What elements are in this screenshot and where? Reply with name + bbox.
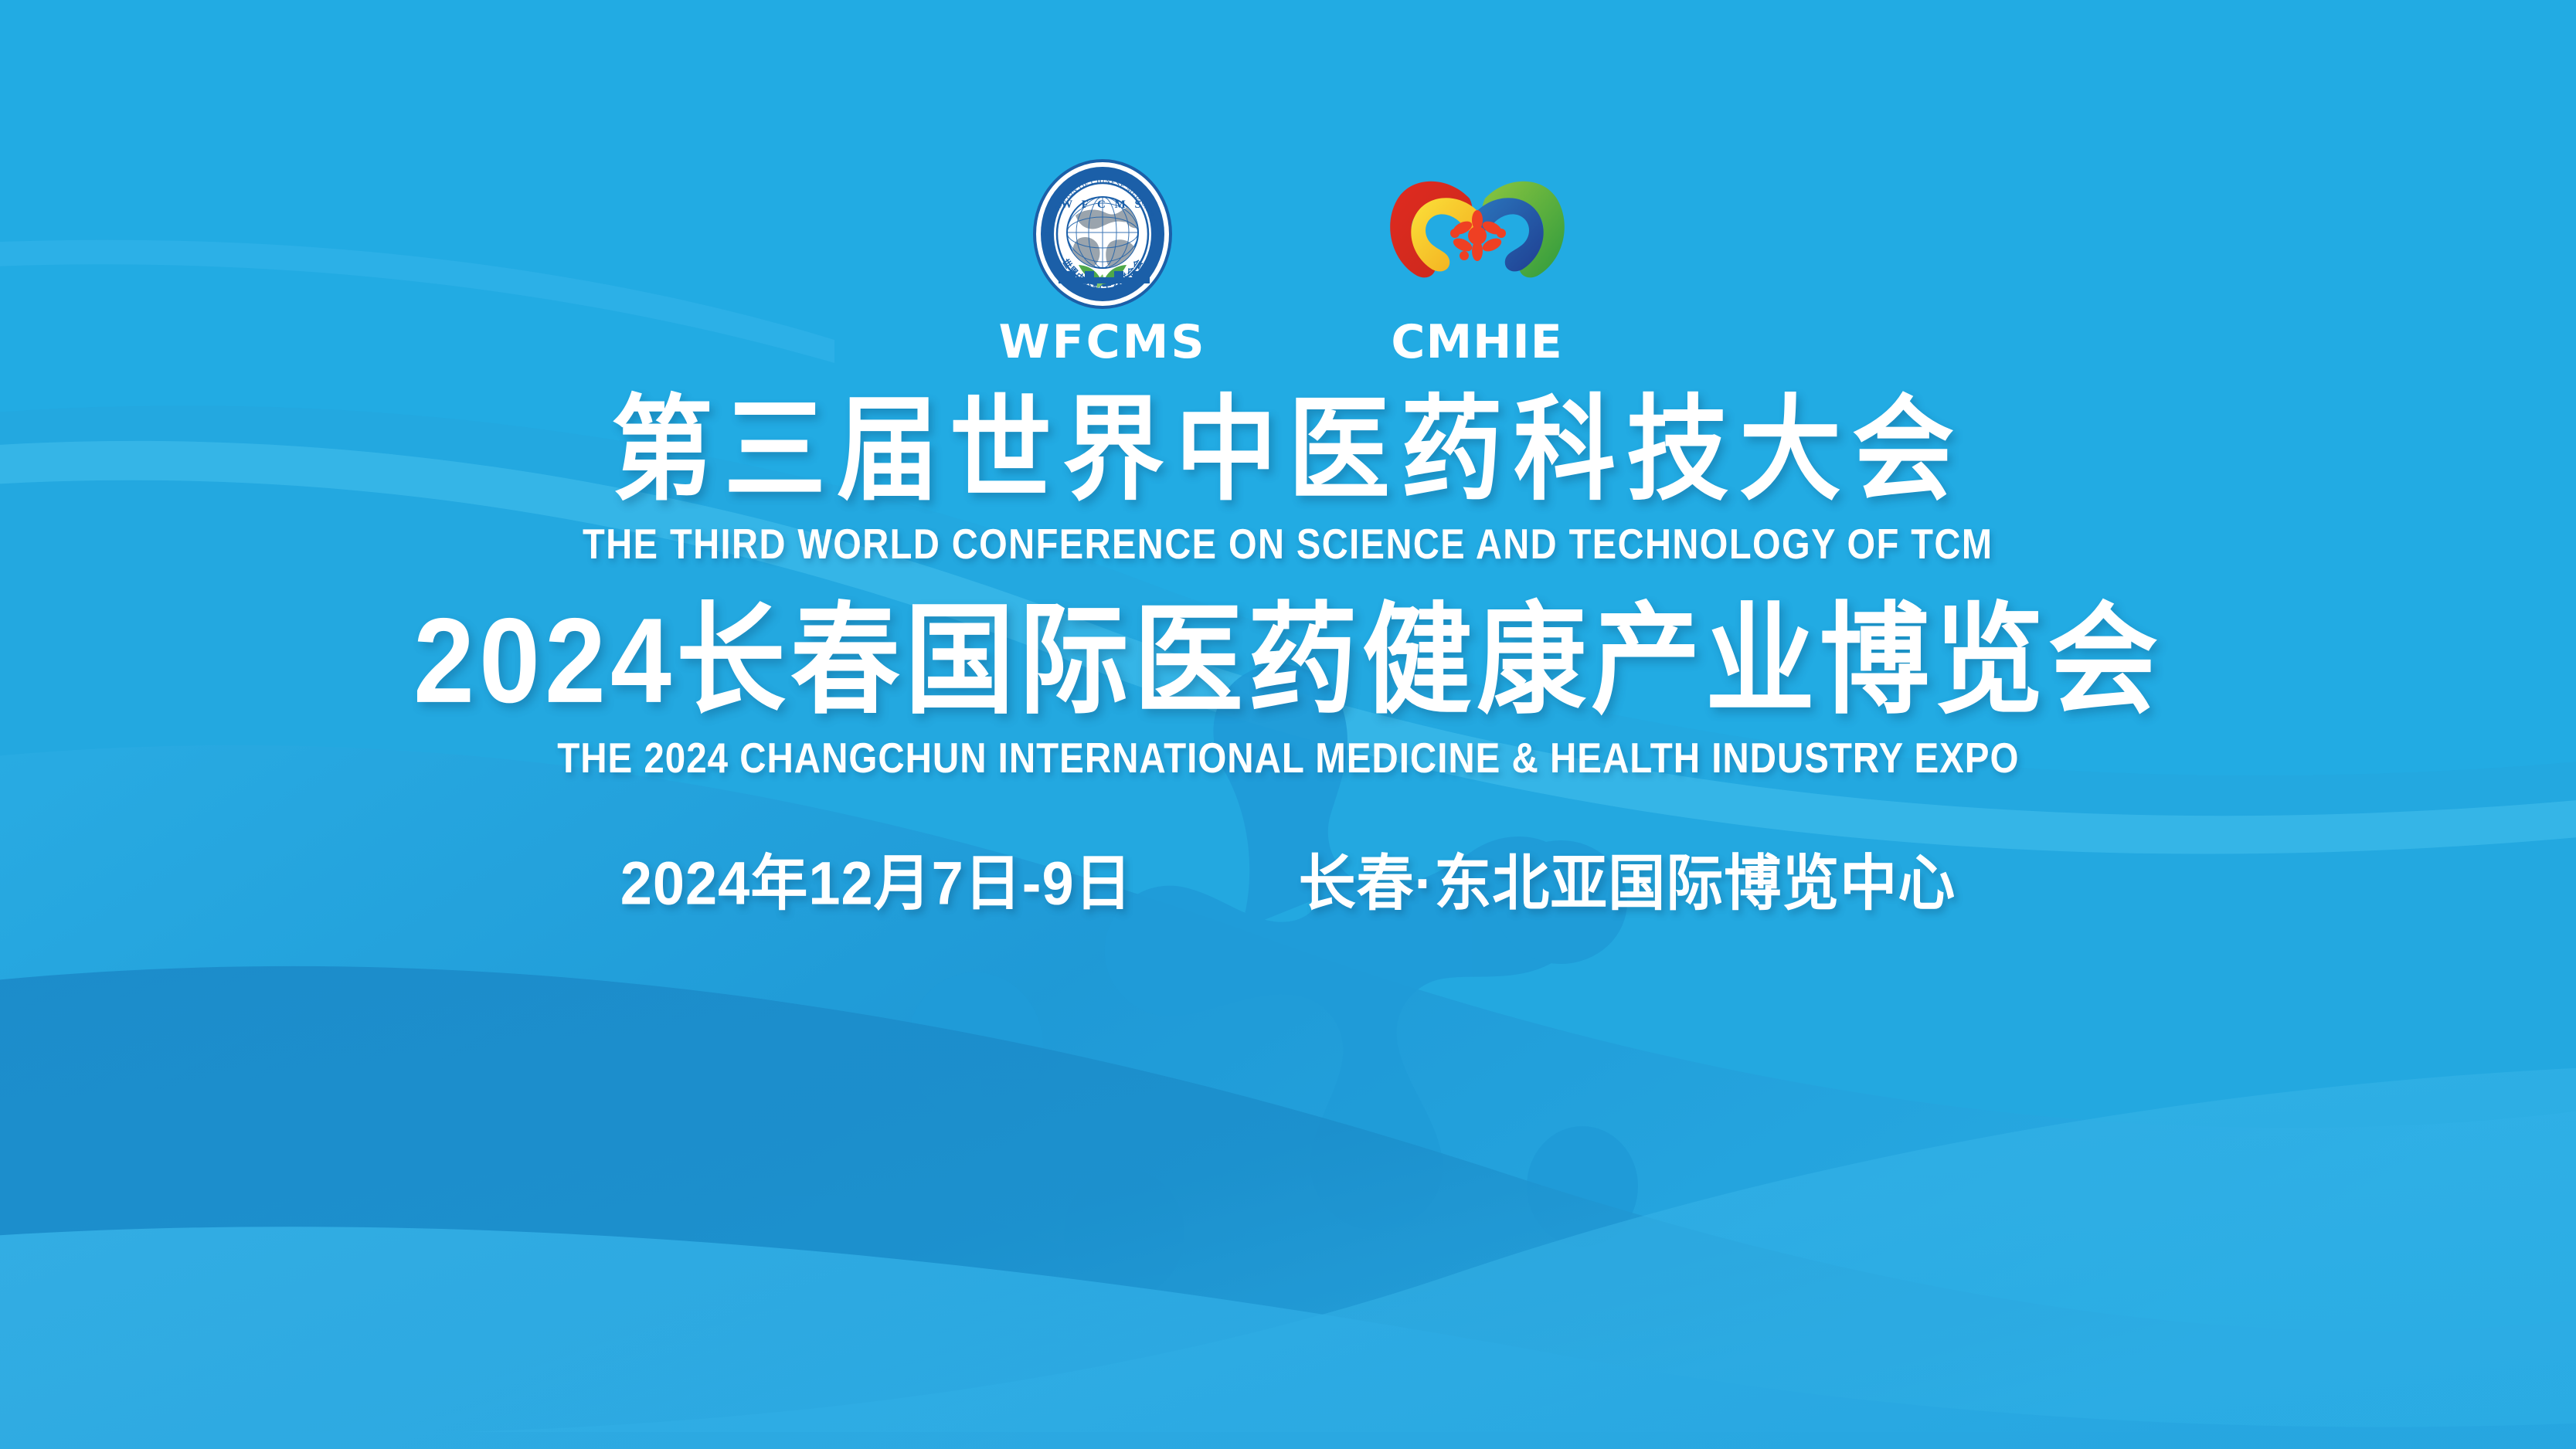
event-venue: 长春·东北亚国际博览中心 <box>1299 853 1956 914</box>
wfcms-wordmark: WFCMS <box>998 319 1206 365</box>
event-date: 2024年12月7日-9日 <box>620 853 1133 914</box>
conference-banner: WORLD FEDERATION OF CHINESE MEDICINE SOC… <box>0 0 2576 1449</box>
meta-row: 2024年12月7日-9日 长春·东北亚国际博览中心 <box>620 855 1956 912</box>
svg-text:W F C M S: W F C M S <box>1061 199 1144 211</box>
wfcms-logo: WORLD FEDERATION OF CHINESE MEDICINE SOC… <box>998 158 1206 365</box>
cmhie-wordmark: CMHIE <box>1391 319 1562 365</box>
expo-title-en: THE 2024 CHANGCHUN INTERNATIONAL MEDICIN… <box>557 738 2019 780</box>
conference-title-en: THE THIRD WORLD CONFERENCE ON SCIENCE AN… <box>583 524 1993 566</box>
banner-content: WORLD FEDERATION OF CHINESE MEDICINE SOC… <box>0 0 2576 1449</box>
wfcms-emblem-icon: WORLD FEDERATION OF CHINESE MEDICINE SOC… <box>1031 158 1174 310</box>
cmhie-emblem-icon <box>1377 158 1578 310</box>
conference-title-cn: 第三届世界中医药科技大会 <box>611 393 1965 507</box>
expo-title-cn: 2024长春国际医药健康产业博览会 <box>413 601 2163 721</box>
logo-row: WORLD FEDERATION OF CHINESE MEDICINE SOC… <box>998 158 1577 365</box>
cmhie-logo: CMHIE <box>1377 158 1578 365</box>
